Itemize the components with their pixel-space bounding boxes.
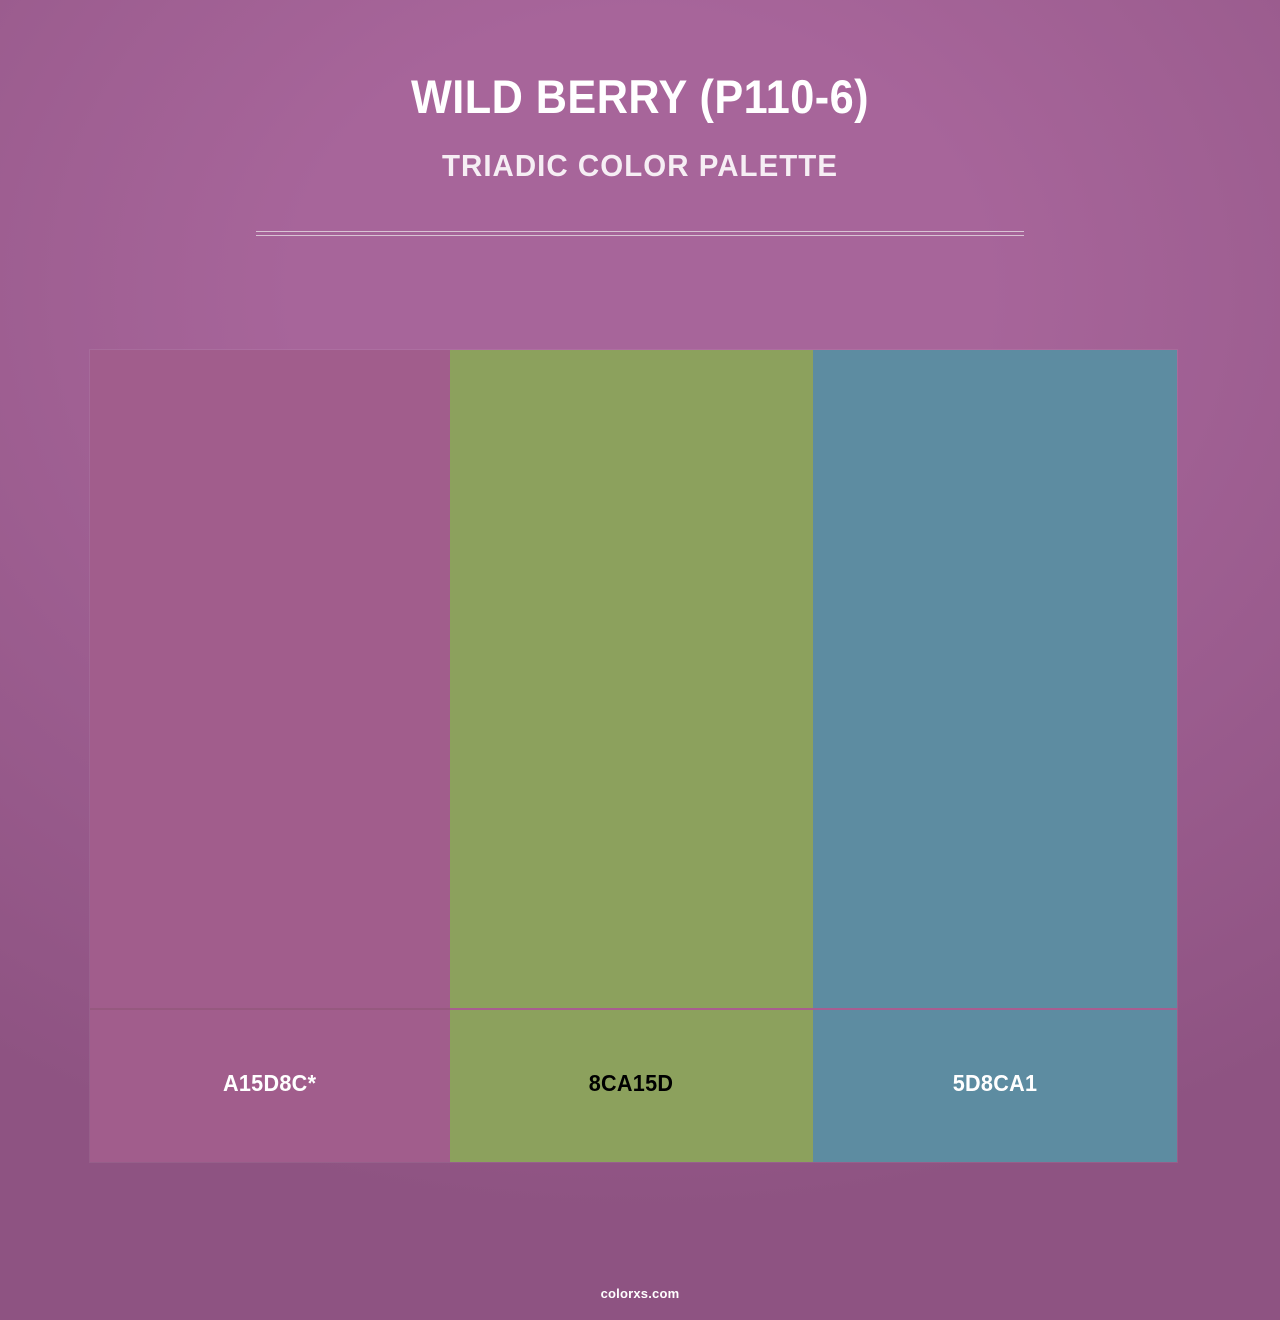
color-swatch-a15d8c[interactable]: A15D8C* [90, 350, 450, 1162]
page-header: WILD BERRY (P110-6) TRIADIC COLOR PALETT… [0, 0, 1280, 182]
footer-site-credit: colorxs.com [0, 1286, 1280, 1301]
color-swatch-panel: A15D8C* 8CA15D 5D8CA1 [90, 350, 1177, 1162]
color-swatch-8ca15d[interactable]: 8CA15D [450, 350, 813, 1162]
swatch-hex-label-a15d8c: A15D8C* [223, 1070, 316, 1097]
palette-page: WILD BERRY (P110-6) TRIADIC COLOR PALETT… [0, 0, 1280, 1320]
swatch-labelbox-8ca15d: 8CA15D [450, 1010, 813, 1162]
swatch-hex-label-8ca15d: 8CA15D [589, 1070, 674, 1097]
color-swatch-5d8ca1[interactable]: 5D8CA1 [813, 350, 1177, 1162]
divider-line-top [256, 231, 1024, 232]
header-divider [256, 231, 1024, 236]
divider-line-bottom [256, 235, 1024, 236]
swatch-labelbox-a15d8c: A15D8C* [90, 1010, 450, 1162]
swatch-hex-label-5d8ca1: 5D8CA1 [953, 1070, 1038, 1097]
page-subtitle: TRIADIC COLOR PALETTE [32, 122, 1248, 183]
page-title: WILD BERRY (P110-6) [51, 0, 1229, 122]
swatch-fill-a15d8c [90, 350, 450, 1008]
swatch-fill-8ca15d [450, 350, 813, 1008]
swatch-labelbox-5d8ca1: 5D8CA1 [813, 1010, 1177, 1162]
swatch-fill-5d8ca1 [813, 350, 1177, 1008]
